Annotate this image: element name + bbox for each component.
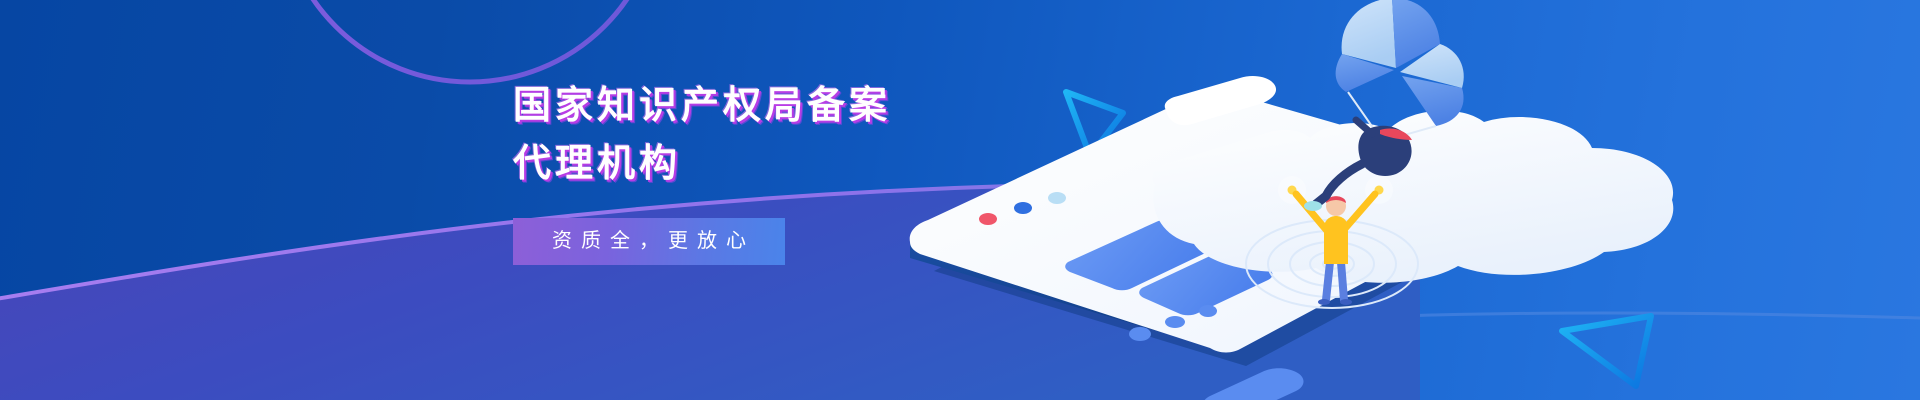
parachutist-shoe	[1304, 201, 1322, 211]
banner-text-block: 国家知识产权局备案 代理机构 资质全，更放心	[513, 78, 1133, 265]
sparkle-left	[1288, 186, 1297, 195]
cyan-triangle-outline-lower	[1562, 316, 1651, 386]
parachute-cords	[1348, 92, 1436, 138]
content-dot-3	[1199, 305, 1217, 317]
content-bar-2	[1139, 254, 1272, 316]
person-arms-raised	[1278, 176, 1393, 305]
thin-curve-line-bottom	[760, 313, 1920, 400]
person-shoe-right	[1340, 299, 1352, 305]
parachute-canopy-2	[1392, 0, 1440, 68]
parachute-canopy-5	[1336, 54, 1394, 92]
parachutist-arm	[1356, 120, 1372, 134]
sparkle-glow-left	[1278, 176, 1306, 204]
person-torso	[1324, 216, 1348, 264]
sparkle-right	[1375, 186, 1384, 195]
person-head	[1326, 196, 1346, 216]
sparkle-glow-right	[1365, 176, 1393, 204]
parachutist-body	[1358, 126, 1411, 176]
parachutist	[1304, 0, 1464, 211]
content-pill-button	[1203, 368, 1304, 400]
person-hair	[1326, 196, 1346, 203]
person-arm-right	[1342, 194, 1375, 232]
headline-line-1: 国家知识产权局备案	[513, 78, 1133, 136]
headline-line-2: 代理机构	[513, 136, 1133, 194]
parachute-canopy-4	[1402, 76, 1464, 126]
cloud-platform	[1152, 76, 1673, 283]
person-leg-left	[1326, 262, 1330, 300]
content-dot-1	[1129, 327, 1151, 341]
parachutist-legs	[1316, 164, 1362, 204]
parachutist-scarf	[1380, 128, 1412, 140]
person-arm-left	[1296, 194, 1328, 232]
purple-circle-arc-top	[280, 0, 660, 82]
cloud-shape	[1152, 111, 1673, 283]
content-dot-2	[1165, 316, 1185, 328]
promo-banner: 国家知识产权局备案 代理机构 资质全，更放心	[0, 0, 1920, 400]
ripple-rings	[1246, 220, 1418, 308]
person-leg-right	[1341, 262, 1344, 300]
cloud-tab	[1165, 76, 1276, 125]
parachute-canopy-1	[1342, 0, 1396, 68]
qualification-badge[interactable]: 资质全，更放心	[513, 218, 785, 265]
parachute-canopy-3	[1400, 44, 1464, 88]
banner-headline: 国家知识产权局备案 代理机构	[513, 78, 1133, 194]
person-shoe-left	[1318, 299, 1330, 305]
